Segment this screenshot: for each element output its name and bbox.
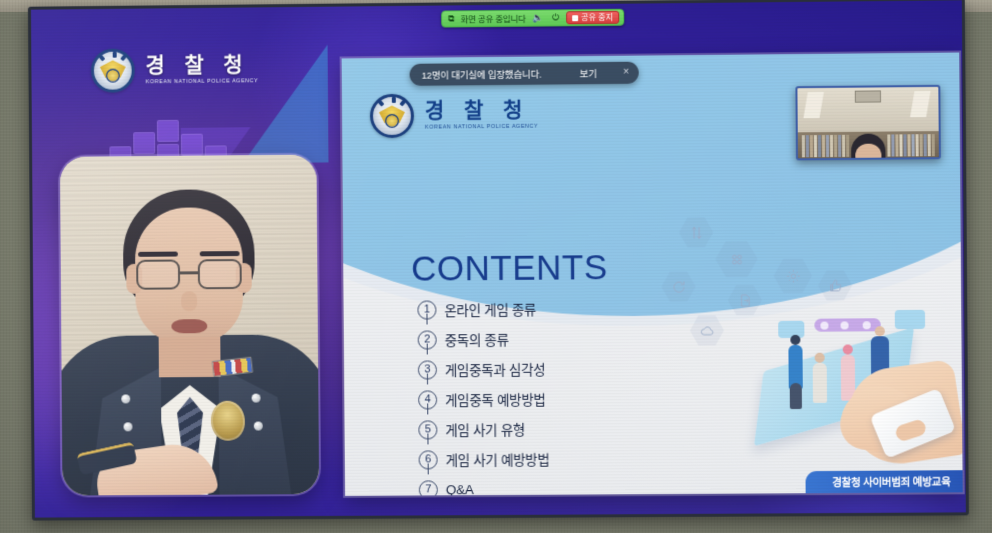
list-item-label: 게임중독과 심각성 (445, 359, 546, 380)
hands-holding-phone-with-people-icon (744, 306, 956, 458)
presenter-glasses-left (136, 259, 180, 289)
presenter-glasses-right (198, 259, 242, 289)
presenter-video-tile[interactable] (60, 155, 319, 496)
presenter-brow-right (200, 251, 240, 256)
list-item-label: 게임 사기 예방방법 (446, 449, 550, 470)
display-monitor: 경 찰 청 KOREAN NATIONAL POLICE AGENCY (28, 0, 969, 521)
notification-message: 12명이 대기실에 입장했습니다. (422, 67, 542, 82)
books-row (802, 135, 849, 157)
screen-surface: 경 찰 청 KOREAN NATIONAL POLICE AGENCY (31, 0, 966, 517)
presenter-brow-left (138, 252, 178, 257)
list-item-number: 7 (419, 480, 438, 496)
logo-english-text: KOREAN NATIONAL POLICE AGENCY (146, 78, 259, 85)
list-item: 5 게임 사기 유형 (418, 413, 678, 445)
police-badge-icon (91, 49, 135, 93)
logo-korean-text: 경 찰 청 (425, 100, 538, 122)
presenter-neck (159, 337, 221, 377)
list-item-label: 게임중독 예방방법 (445, 389, 546, 410)
microphone-icon[interactable]: 🔈 (532, 14, 545, 23)
presenter-mouth (171, 319, 207, 333)
police-badge-icon (370, 94, 414, 138)
list-item: 3 게임중독과 심각성 (418, 353, 678, 385)
list-item-label: 중독의 종류 (445, 329, 509, 349)
share-status-text: 화면 공유 중입니다 (461, 12, 526, 25)
list-item: 1 온라인 게임 종류 (417, 293, 677, 325)
list-item-label: Q&A (446, 482, 474, 496)
list-item-label: 온라인 게임 종류 (444, 299, 536, 320)
cloud-icon (690, 315, 724, 345)
four-dots-icon (715, 241, 757, 277)
virtual-bg-police-logo: 경 찰 청 KOREAN NATIONAL POLICE AGENCY (91, 47, 259, 92)
speech-bubble (895, 310, 925, 329)
list-item: 4 게임중독 예방방법 (418, 383, 678, 415)
books-row (887, 134, 935, 156)
list-item-label: 게임 사기 유형 (445, 419, 525, 440)
close-icon[interactable]: × (623, 68, 629, 78)
list-item: 7 Q&A (419, 473, 679, 496)
pause-icon[interactable]: ⏻ (551, 13, 560, 22)
logo-korean-text: 경 찰 청 (145, 54, 258, 76)
list-item: 2 중독의 종류 (418, 323, 678, 355)
waiting-room-notification[interactable]: 12명이 대기실에 입장했습니다. 보기 × (410, 62, 640, 86)
slide-footer: 경찰청 사이버범죄 예방교육 (806, 470, 963, 493)
page-title: CONTENTS (411, 248, 608, 290)
gear-icon (774, 259, 812, 293)
stop-share-label: 공유 중지 (581, 12, 613, 23)
stop-square-icon (572, 15, 578, 21)
refresh-icon (661, 271, 695, 301)
slide-footer-text: 경찰청 사이버범죄 예방교육 (832, 474, 950, 490)
share-screen-icon: ⧉ (448, 14, 455, 23)
slide-police-logo: 경 찰 청 KOREAN NATIONAL POLICE AGENCY (370, 93, 538, 139)
transfer-arrows-icon (679, 217, 713, 247)
list-item: 6 게임 사기 예방방법 (419, 443, 679, 475)
contents-list: 1 온라인 게임 종류 2 중독의 종류 3 게임중독과 심각성 4 게임중독 … (417, 293, 679, 496)
stop-share-button[interactable]: 공유 중지 (566, 11, 619, 25)
participant-face (855, 144, 881, 161)
logo-english-text: KOREAN NATIONAL POLICE AGENCY (425, 124, 538, 131)
notification-view-button[interactable]: 보기 (580, 66, 598, 80)
presenter-nose (181, 291, 197, 311)
chat-pill (814, 318, 881, 332)
presenter-glasses-bridge (179, 271, 199, 274)
thumbs-up-icon (818, 270, 852, 300)
wall-sign (855, 90, 881, 102)
participant-video-thumbnail[interactable] (795, 85, 941, 161)
screen-share-status-bar[interactable]: ⧉ 화면 공유 중입니다 🔈 ⏻ 공유 중지 (441, 9, 624, 28)
